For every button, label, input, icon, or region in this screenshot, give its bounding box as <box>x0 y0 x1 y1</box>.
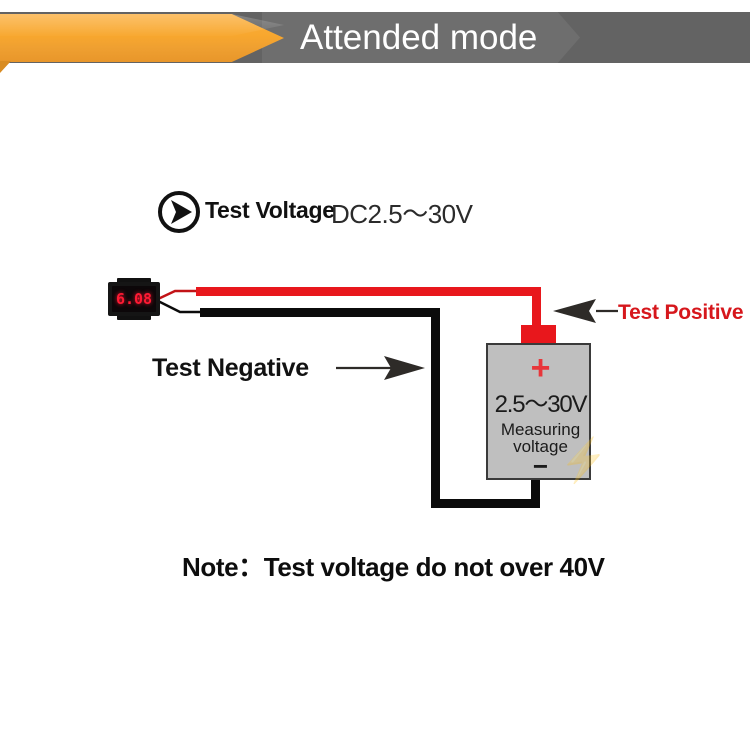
note-text: Note：Test voltage do not over 40V <box>182 547 605 584</box>
header-orange-arrow <box>0 14 284 62</box>
black-lead-thin <box>158 301 200 312</box>
test-negative-arrowhead <box>384 356 425 380</box>
play-arrow-glyph <box>158 191 206 239</box>
black-wire-horizontal-top <box>200 308 440 317</box>
red-lead-thin <box>158 291 196 299</box>
wiring-overlay <box>0 0 750 750</box>
meter-screen: 6.08 <box>112 286 156 312</box>
black-wire-horizontal-bottom <box>431 499 540 508</box>
black-wire-vertical <box>431 308 440 508</box>
test-positive-label: Test Positive <box>618 301 743 325</box>
test-voltage-label: Test Voltage <box>205 197 335 224</box>
header-banner: Attended mode <box>0 0 750 80</box>
battery-voltage-range: 2.5～30V <box>488 393 593 417</box>
test-negative-label: Test Negative <box>152 354 309 383</box>
battery-positive-terminal <box>521 325 556 344</box>
page-title: Attended mode <box>300 12 720 63</box>
header-orange-tail <box>0 61 11 73</box>
red-wire-horizontal <box>196 287 541 296</box>
meter-reading: 6.08 <box>116 292 152 307</box>
digital-voltmeter[interactable]: 6.08 <box>108 278 160 320</box>
battery-plus-symbol: + <box>488 351 593 385</box>
battery-minus-symbol: − <box>488 453 593 479</box>
play-circle-icon <box>158 191 206 239</box>
callout-overlay <box>0 0 750 750</box>
measuring-voltage-source: + 2.5～30V Measuring voltage − ⚡ <box>486 343 591 480</box>
test-voltage-value: DC2.5～30V <box>331 194 472 231</box>
diagram-canvas: Attended mode Test Voltage DC2.5～30V 6.0… <box>0 0 750 750</box>
test-positive-arrowhead <box>553 299 596 323</box>
